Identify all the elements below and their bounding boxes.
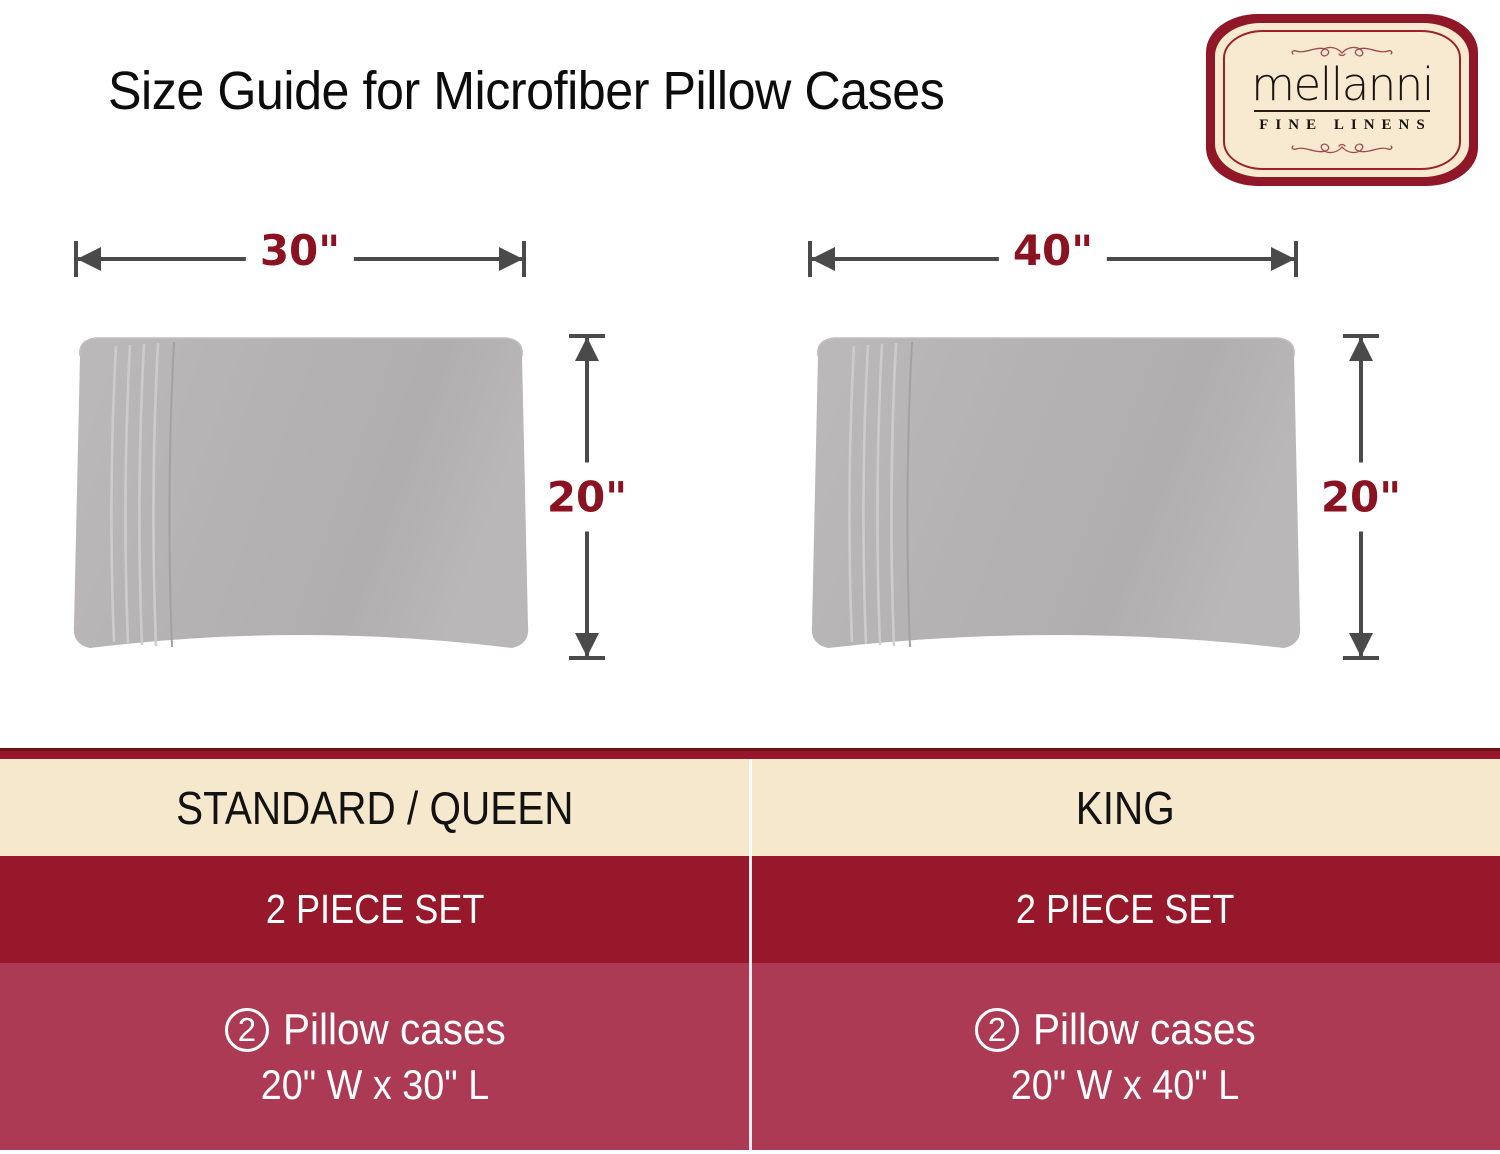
- arrow-head-up-icon: [1349, 337, 1373, 361]
- detail-item-king: 2 Pillow cases: [975, 1005, 1275, 1055]
- arrow-head-right-icon: [1271, 247, 1295, 271]
- size-comparison-table: STANDARD / QUEEN KING 2 PIECE SET 2 PIEC…: [0, 748, 1500, 1154]
- logo-divider: [1254, 110, 1430, 112]
- quantity-badge: 2: [975, 1008, 1019, 1052]
- arrow-head-left-icon: [77, 247, 101, 271]
- brand-logo: mellanni FINE LINENS: [1206, 14, 1478, 186]
- arrow-head-down-icon: [1349, 633, 1373, 657]
- height-dimension-standard: 20": [564, 334, 610, 660]
- height-label-standard: 20": [543, 463, 631, 532]
- detail-dimensions-standard-queen: 20" W x 30" L: [261, 1061, 490, 1109]
- table-top-bar: [0, 751, 1500, 759]
- table-header-standard-queen: STANDARD / QUEEN: [0, 759, 750, 856]
- set-label-standard-queen: 2 PIECE SET: [0, 856, 750, 963]
- table-bottom-edge: [0, 1150, 1500, 1154]
- arrow-head-left-icon: [811, 247, 835, 271]
- detail-item-standard-queen: 2 Pillow cases: [225, 1005, 525, 1055]
- set-label-king: 2 PIECE SET: [750, 856, 1500, 963]
- detail-dimensions-king: 20" W x 40" L: [1011, 1061, 1240, 1109]
- pillow-image-standard: [62, 330, 540, 660]
- size-guide-infographic: Size Guide for Microfiber Pillow Cases m…: [0, 0, 1500, 1154]
- quantity-badge: 2: [225, 1008, 269, 1052]
- logo-content: mellanni FINE LINENS: [1227, 34, 1457, 166]
- height-label-king: 20": [1317, 463, 1405, 532]
- arrow-head-down-icon: [575, 633, 599, 657]
- width-dimension-king: 40": [808, 236, 1298, 282]
- width-label-standard: 30": [246, 226, 354, 275]
- pillow-image-king: [800, 330, 1312, 660]
- detail-cell-king: 2 Pillow cases 20" W x 40" L: [750, 963, 1500, 1150]
- page-title: Size Guide for Microfiber Pillow Cases: [108, 60, 944, 122]
- flourish-bottom-icon: [1282, 134, 1402, 158]
- logo-tagline: FINE LINENS: [1252, 117, 1431, 134]
- height-dimension-king: 20": [1338, 334, 1384, 660]
- item-label: Pillow cases: [283, 1005, 506, 1055]
- item-label: Pillow cases: [1033, 1005, 1256, 1055]
- arrow-head-up-icon: [575, 337, 599, 361]
- table-column-divider: [749, 759, 752, 1150]
- logo-wordmark: mellanni: [1251, 62, 1433, 107]
- width-label-king: 40": [999, 226, 1107, 275]
- table-header-king: KING: [750, 759, 1500, 856]
- arrow-head-right-icon: [499, 247, 523, 271]
- detail-cell-standard-queen: 2 Pillow cases 20" W x 30" L: [0, 963, 750, 1150]
- width-dimension-standard: 30": [74, 236, 526, 282]
